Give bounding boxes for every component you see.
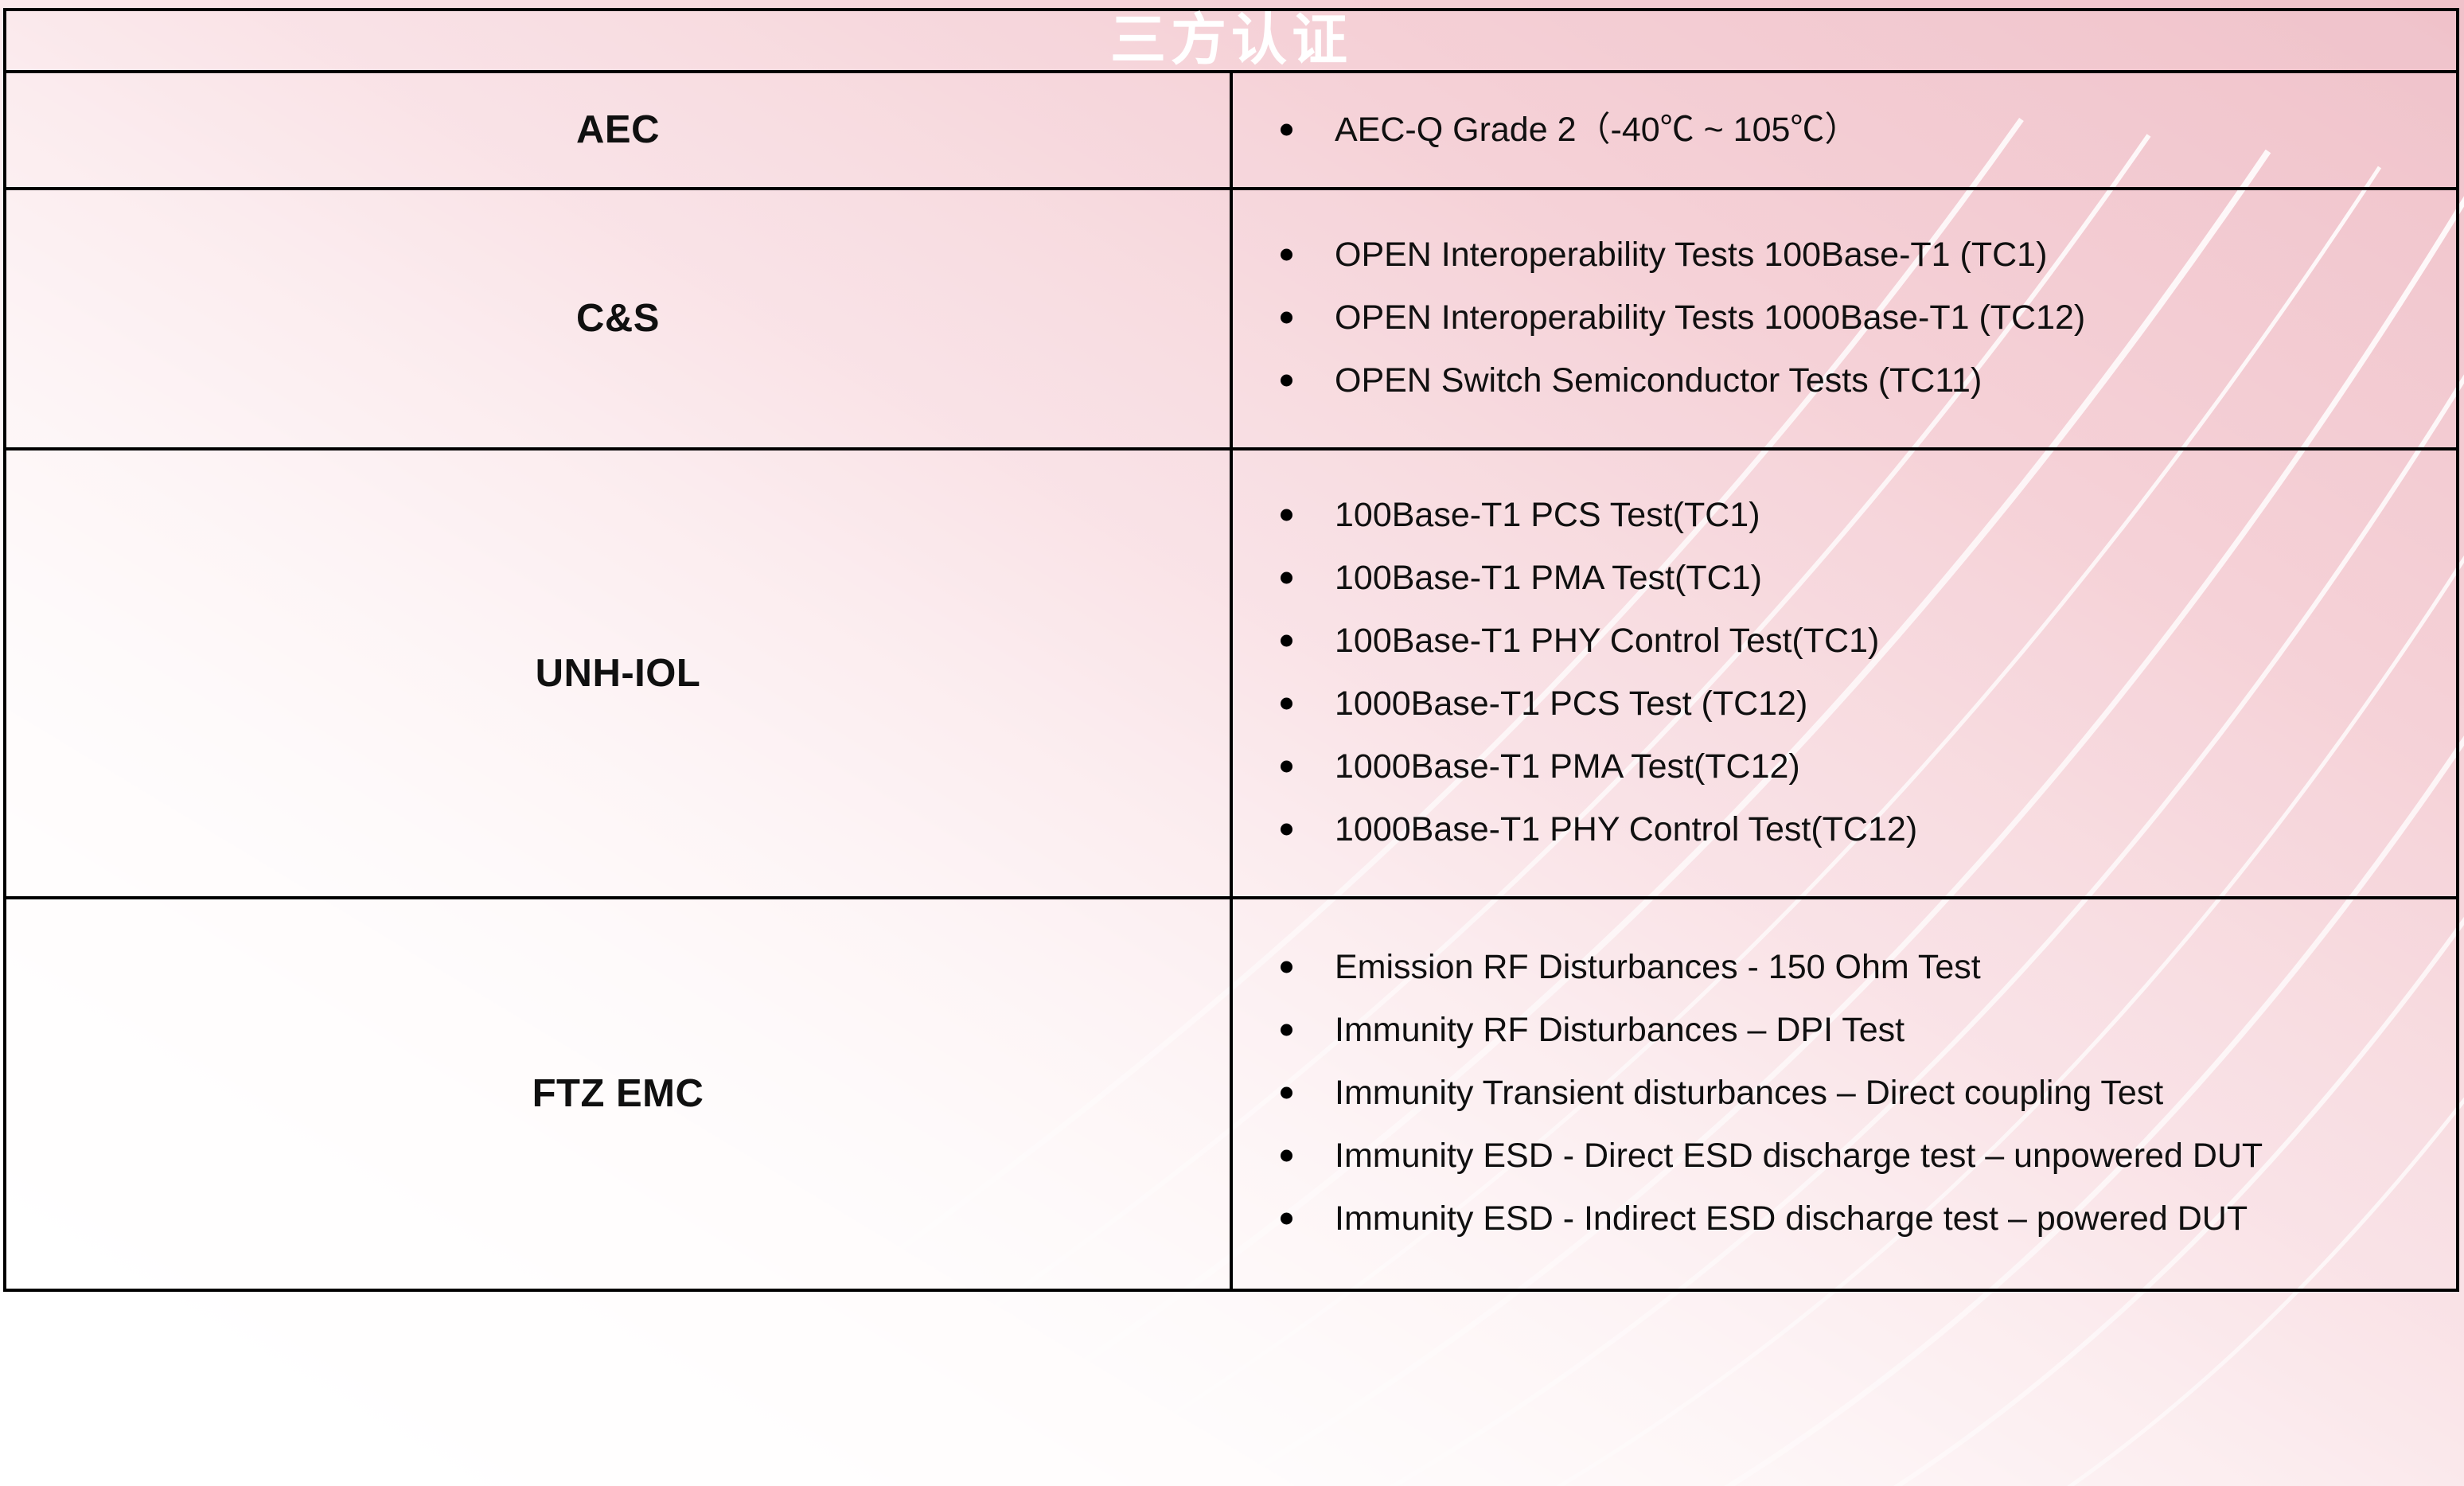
list-item: Immunity ESD - Direct ESD discharge test… — [1249, 1125, 2456, 1188]
bullet-dot-icon — [1281, 1087, 1292, 1099]
table-row: AEC AEC-Q Grade 2（-40℃ ~ 105℃） — [5, 72, 2458, 189]
bullet-dot-icon — [1281, 572, 1292, 584]
list-item-text: Emission RF Disturbances - 150 Ohm Test — [1335, 948, 1981, 986]
list-item: OPEN Interoperability Tests 1000Base-T1 … — [1249, 287, 2456, 349]
list-item: OPEN Switch Semiconductor Tests (TC11) — [1249, 349, 2456, 412]
list-item: 1000Base-T1 PCS Test (TC12) — [1249, 673, 2456, 735]
list-item-text: OPEN Switch Semiconductor Tests (TC11) — [1335, 361, 1982, 400]
bullet-dot-icon — [1281, 1150, 1292, 1162]
list-item: AEC-Q Grade 2（-40℃ ~ 105℃） — [1249, 99, 2456, 162]
page-title: 三方认证 — [6, 11, 2456, 70]
list-item-text: 100Base-T1 PMA Test(TC1) — [1335, 559, 1762, 597]
table-row: FTZ EMC Emission RF Disturbances - 150 O… — [5, 898, 2458, 1290]
bullet-dot-icon — [1281, 509, 1292, 521]
table-row: C&S OPEN Interoperability Tests 100Base-… — [5, 189, 2458, 449]
third-party-certification-table: 三方认证 AEC AEC-Q Grade 2（-40℃ ~ 105℃） C&S — [3, 8, 2459, 1292]
list-item: Immunity Transient disturbances – Direct… — [1249, 1062, 2456, 1125]
row-content-cs: OPEN Interoperability Tests 100Base-T1 (… — [1231, 189, 2458, 449]
list-item-text: Immunity RF Disturbances – DPI Test — [1335, 1011, 1905, 1049]
list-item-text: 1000Base-T1 PCS Test (TC12) — [1335, 684, 1807, 723]
row-label-unh-iol: UNH-IOL — [5, 449, 1231, 898]
list-item-text: OPEN Interoperability Tests 1000Base-T1 … — [1335, 298, 2085, 337]
table-row: UNH-IOL 100Base-T1 PCS Test(TC1) 100Base… — [5, 449, 2458, 898]
list-item: Immunity ESD - Indirect ESD discharge te… — [1249, 1188, 2456, 1250]
list-item-text: OPEN Interoperability Tests 100Base-T1 (… — [1335, 236, 2047, 274]
list-item-text: 100Base-T1 PHY Control Test(TC1) — [1335, 622, 1879, 660]
header-banner: 三方认证 — [5, 10, 2458, 72]
list-item: 1000Base-T1 PMA Test(TC12) — [1249, 735, 2456, 798]
row-content-ftz-emc: Emission RF Disturbances - 150 Ohm Test … — [1231, 898, 2458, 1290]
list-item-text: 100Base-T1 PCS Test(TC1) — [1335, 496, 1760, 534]
bullet-dot-icon — [1281, 1024, 1292, 1036]
bullet-dot-icon — [1281, 249, 1292, 261]
bullet-list: 100Base-T1 PCS Test(TC1) 100Base-T1 PMA … — [1233, 484, 2456, 861]
bullet-list: OPEN Interoperability Tests 100Base-T1 (… — [1233, 224, 2456, 412]
row-content-aec: AEC-Q Grade 2（-40℃ ~ 105℃） — [1231, 72, 2458, 189]
bullet-dot-icon — [1281, 1213, 1292, 1225]
row-label-aec: AEC — [5, 72, 1231, 189]
bullet-dot-icon — [1281, 375, 1292, 387]
list-item: 100Base-T1 PCS Test(TC1) — [1249, 484, 2456, 547]
list-item-text: 1000Base-T1 PHY Control Test(TC12) — [1335, 810, 1917, 848]
bullet-dot-icon — [1281, 698, 1292, 710]
bullet-list: Emission RF Disturbances - 150 Ohm Test … — [1233, 936, 2456, 1250]
row-label-ftz-emc: FTZ EMC — [5, 898, 1231, 1290]
table-header-row: 三方认证 — [5, 10, 2458, 72]
list-item-text: Immunity ESD - Direct ESD discharge test… — [1335, 1137, 2263, 1175]
bullet-dot-icon — [1281, 124, 1292, 136]
bullet-list: AEC-Q Grade 2（-40℃ ~ 105℃） — [1233, 99, 2456, 162]
row-content-unh-iol: 100Base-T1 PCS Test(TC1) 100Base-T1 PMA … — [1231, 449, 2458, 898]
bullet-dot-icon — [1281, 824, 1292, 836]
list-item: 100Base-T1 PMA Test(TC1) — [1249, 547, 2456, 610]
bullet-dot-icon — [1281, 961, 1292, 973]
list-item: Emission RF Disturbances - 150 Ohm Test — [1249, 936, 2456, 999]
list-item: OPEN Interoperability Tests 100Base-T1 (… — [1249, 224, 2456, 287]
list-item: 1000Base-T1 PHY Control Test(TC12) — [1249, 798, 2456, 861]
bullet-dot-icon — [1281, 312, 1292, 324]
list-item-text: AEC-Q Grade 2（-40℃ ~ 105℃） — [1335, 111, 1858, 149]
list-item-text: Immunity Transient disturbances – Direct… — [1335, 1074, 2163, 1112]
list-item-text: 1000Base-T1 PMA Test(TC12) — [1335, 747, 1800, 786]
list-item-text: Immunity ESD - Indirect ESD discharge te… — [1335, 1199, 2248, 1238]
list-item: Immunity RF Disturbances – DPI Test — [1249, 999, 2456, 1062]
row-label-cs: C&S — [5, 189, 1231, 449]
list-item: 100Base-T1 PHY Control Test(TC1) — [1249, 610, 2456, 673]
bullet-dot-icon — [1281, 635, 1292, 647]
bullet-dot-icon — [1281, 761, 1292, 773]
